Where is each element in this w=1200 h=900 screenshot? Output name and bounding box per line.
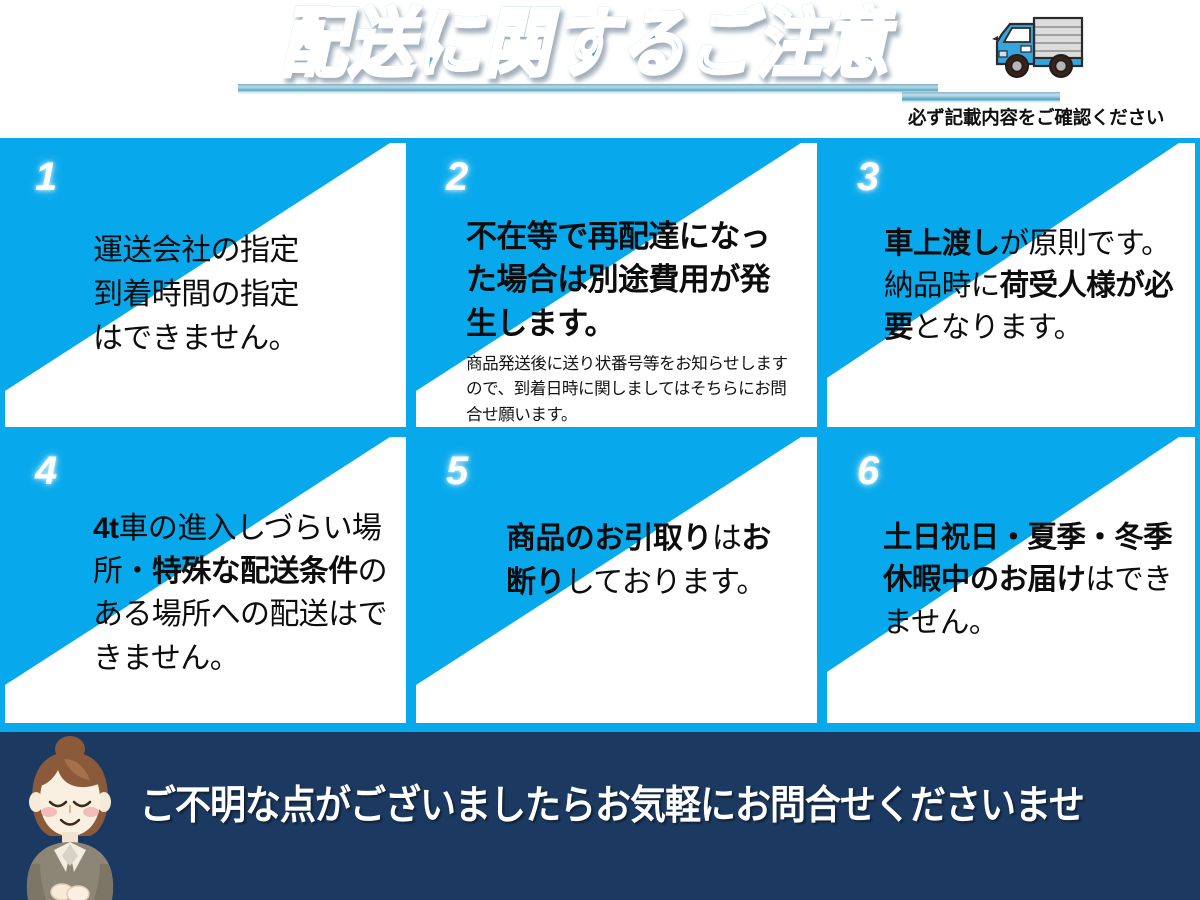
card-body: 4t車の進入しづらい場所・特殊な配送条件のある場所への配送はできません。: [93, 507, 388, 680]
card-number-badge: 2: [446, 157, 468, 197]
title-underline-rule: [238, 84, 938, 94]
truck-caption: 必ず記載内容をご確認ください: [908, 104, 1198, 130]
notice-card-inner: 5 商品のお引取りはお断りしております。: [416, 437, 817, 723]
notice-card-grid: 1 運送会社の指定到着時間の指定はできません。 2 不在等で再配達になった場合は…: [0, 138, 1200, 728]
notice-card-inner: 4 4t車の進入しづらい場所・特殊な配送条件のある場所への配送はできません。: [5, 437, 406, 723]
notice-card-inner: 2 不在等で再配達になった場合は別途費用が発生します。 商品発送後に送り状番号等…: [416, 143, 817, 427]
notice-card-2: 2 不在等で再配達になった場合は別途費用が発生します。 商品発送後に送り状番号等…: [411, 138, 822, 432]
truck-caption-rule: [902, 92, 1060, 103]
truck-block: 必ず記載内容をご確認ください: [972, 4, 1200, 138]
card-number-badge: 5: [446, 451, 468, 491]
card-main-text: 車上渡しが原則です。納品時に荷受人様が必要となります。: [884, 223, 1177, 349]
notice-card-4: 4 4t車の進入しづらい場所・特殊な配送条件のある場所への配送はできません。: [0, 432, 411, 728]
notice-card-5: 5 商品のお引取りはお断りしております。: [411, 432, 822, 728]
card-body: 運送会社の指定到着時間の指定はできません。: [93, 229, 388, 360]
card-body: 商品のお引取りはお断りしております。: [506, 517, 799, 605]
card-main-text: 土日祝日・夏季・冬季休暇中のお届けはできません。: [883, 517, 1177, 644]
card-main-text: 4t車の進入しづらい場所・特殊な配送条件のある場所への配送はできません。: [93, 507, 388, 680]
delivery-truck-icon: [988, 6, 1088, 95]
card-number-badge: 3: [857, 157, 879, 197]
card-body: 不在等で再配達になった場合は別途費用が発生します。 商品発送後に送り状番号等をお…: [466, 215, 799, 427]
footer-message: ご不明な点がございましたらお気軽にお問合せくださいませ: [140, 773, 1190, 830]
footer-banner: ご不明な点がございましたらお気軽にお問合せくださいませ: [0, 728, 1200, 900]
card-number-badge: 4: [35, 451, 57, 491]
card-sub-text: 商品発送後に送り状番号等をお知らせしますので、到着日時に関しましてはそちらにお問…: [466, 351, 799, 427]
notice-card-inner: 3 車上渡しが原則です。納品時に荷受人様が必要となります。: [827, 143, 1195, 427]
footer-top-accent-line: [0, 728, 1200, 732]
notice-card-inner: 1 運送会社の指定到着時間の指定はできません。: [5, 143, 406, 427]
notice-card-inner: 6 土日祝日・夏季・冬季休暇中のお届けはできません。: [827, 437, 1195, 723]
page-title-wrap: 配送に関するご注意: [236, 0, 936, 94]
card-number-badge: 6: [857, 451, 879, 491]
notice-card-1: 1 運送会社の指定到着時間の指定はできません。: [0, 138, 411, 432]
notice-card-6: 6 土日祝日・夏季・冬季休暇中のお届けはできません。: [822, 432, 1200, 728]
notice-card-3: 3 車上渡しが原則です。納品時に荷受人様が必要となります。: [822, 138, 1200, 432]
card-main-text: 運送会社の指定到着時間の指定はできません。: [93, 229, 388, 360]
card-body: 土日祝日・夏季・冬季休暇中のお届けはできません。: [883, 517, 1177, 644]
card-body: 車上渡しが原則です。納品時に荷受人様が必要となります。: [884, 223, 1177, 349]
card-number-badge: 1: [35, 157, 57, 197]
card-main-text: 不在等で再配達になった場合は別途費用が発生します。: [466, 215, 799, 345]
female-staff-avatar-icon: [6, 732, 134, 900]
shipping-notice-infographic: 配送に関するご注意: [0, 0, 1200, 900]
header: 配送に関するご注意: [0, 0, 1200, 138]
card-main-text: 商品のお引取りはお断りしております。: [506, 517, 799, 605]
